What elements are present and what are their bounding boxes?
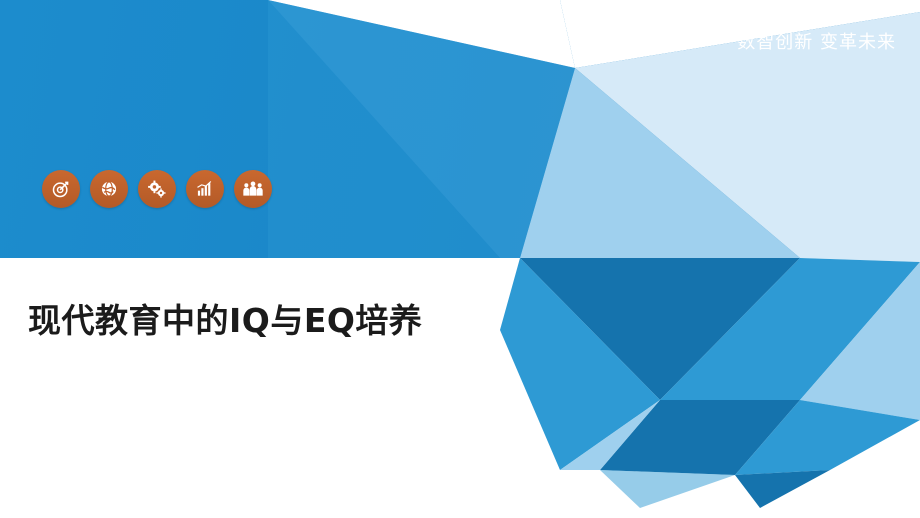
target-arrow-icon — [42, 170, 80, 208]
gears-icon — [138, 170, 176, 208]
slide-tagline: 数智创新 变革未来 — [737, 28, 896, 54]
slide-canvas: 数智创新 变革未来 — [0, 0, 920, 518]
polygon-artwork — [0, 0, 920, 518]
globe-icon — [90, 170, 128, 208]
icon-row — [42, 170, 272, 208]
people-group-icon — [234, 170, 272, 208]
page-title: 现代教育中的IQ与EQ培养 — [28, 294, 422, 342]
bar-chart-icon — [186, 170, 224, 208]
